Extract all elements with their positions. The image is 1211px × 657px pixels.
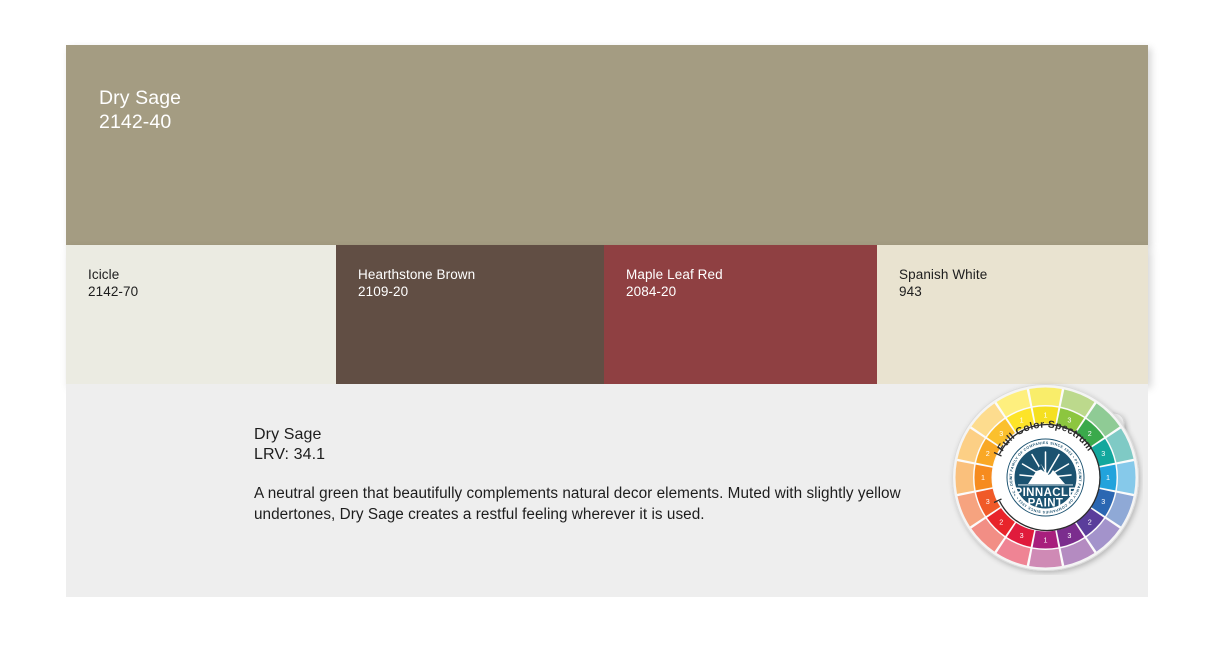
wheel-segment-number: 2 <box>1088 429 1092 438</box>
wheel-segment-number: 3 <box>986 497 990 506</box>
wheel-segment-number: 1 <box>981 473 985 482</box>
wheel-segment-number: 3 <box>1101 449 1105 458</box>
hero-color-code: 2142-40 <box>99 110 1148 134</box>
description-body-text: A neutral green that beautifully complem… <box>254 483 934 525</box>
wheel-segment-number: 1 <box>1020 415 1024 424</box>
description-color-name: Dry Sage <box>254 425 944 445</box>
coordinating-swatch-row: Icicle 2142-70 Hearthstone Brown 2109-20… <box>66 245 1148 384</box>
swatch-icicle[interactable]: Icicle 2142-70 <box>66 245 336 384</box>
description-text-block: Dry Sage LRV: 34.1 A neutral green that … <box>254 425 944 525</box>
swatch-name: Icicle <box>88 266 336 283</box>
swatch-name: Hearthstone Brown <box>358 266 604 283</box>
wheel-segment-number: 2 <box>999 517 1003 526</box>
color-wheel-graphic: 1323132313231231 Full Color Spectrum THE… <box>948 380 1143 575</box>
swatch-name: Spanish White <box>899 266 1148 283</box>
wheel-segment-number: 1 <box>1044 411 1048 420</box>
swatch-code: 2084-20 <box>626 283 877 300</box>
wheel-segment-number: 3 <box>1101 497 1105 506</box>
wheel-segment-number: 2 <box>1088 517 1092 526</box>
swatch-hearthstone-brown[interactable]: Hearthstone Brown 2109-20 <box>336 245 604 384</box>
description-lrv-value: LRV: 34.1 <box>254 445 944 465</box>
wheel-segment-number: 3 <box>1067 531 1071 540</box>
wheel-segment-number: 1 <box>1106 473 1110 482</box>
wheel-segment-number: 3 <box>999 429 1003 438</box>
paint-palette-card: Dry Sage 2142-40 Icicle 2142-70 Hearthst… <box>66 45 1148 597</box>
seal-divider-rule <box>1018 485 1073 486</box>
swatch-name: Maple Leaf Red <box>626 266 877 283</box>
wheel-outer-segment-0 <box>1029 388 1062 407</box>
swatch-code: 2109-20 <box>358 283 604 300</box>
wheel-segment-number: 3 <box>1020 531 1024 540</box>
color-description-panel: Dry Sage LRV: 34.1 A neutral green that … <box>66 384 1148 597</box>
wheel-segment-number: 2 <box>986 449 990 458</box>
swatch-spanish-white[interactable]: Spanish White 943 <box>877 245 1148 384</box>
wheel-segment-number: 1 <box>1044 536 1048 545</box>
wheel-outer-segment-12 <box>956 461 975 494</box>
hero-color-name: Dry Sage <box>99 86 1148 110</box>
swatch-code: 943 <box>899 283 1148 300</box>
wheel-segment-number: 3 <box>1067 415 1071 424</box>
hero-color-swatch[interactable]: Dry Sage 2142-40 <box>66 45 1148 245</box>
seal-brand-name-line2: PAINT <box>1028 498 1064 510</box>
pinnacle-paint-color-wheel-logo: 1323132313231231 Full Color Spectrum THE… <box>948 380 1143 575</box>
swatch-maple-leaf-red[interactable]: Maple Leaf Red 2084-20 <box>604 245 877 384</box>
wheel-outer-segment-8 <box>1029 549 1062 568</box>
swatch-code: 2142-70 <box>88 283 336 300</box>
wheel-outer-segment-4 <box>1117 461 1136 494</box>
